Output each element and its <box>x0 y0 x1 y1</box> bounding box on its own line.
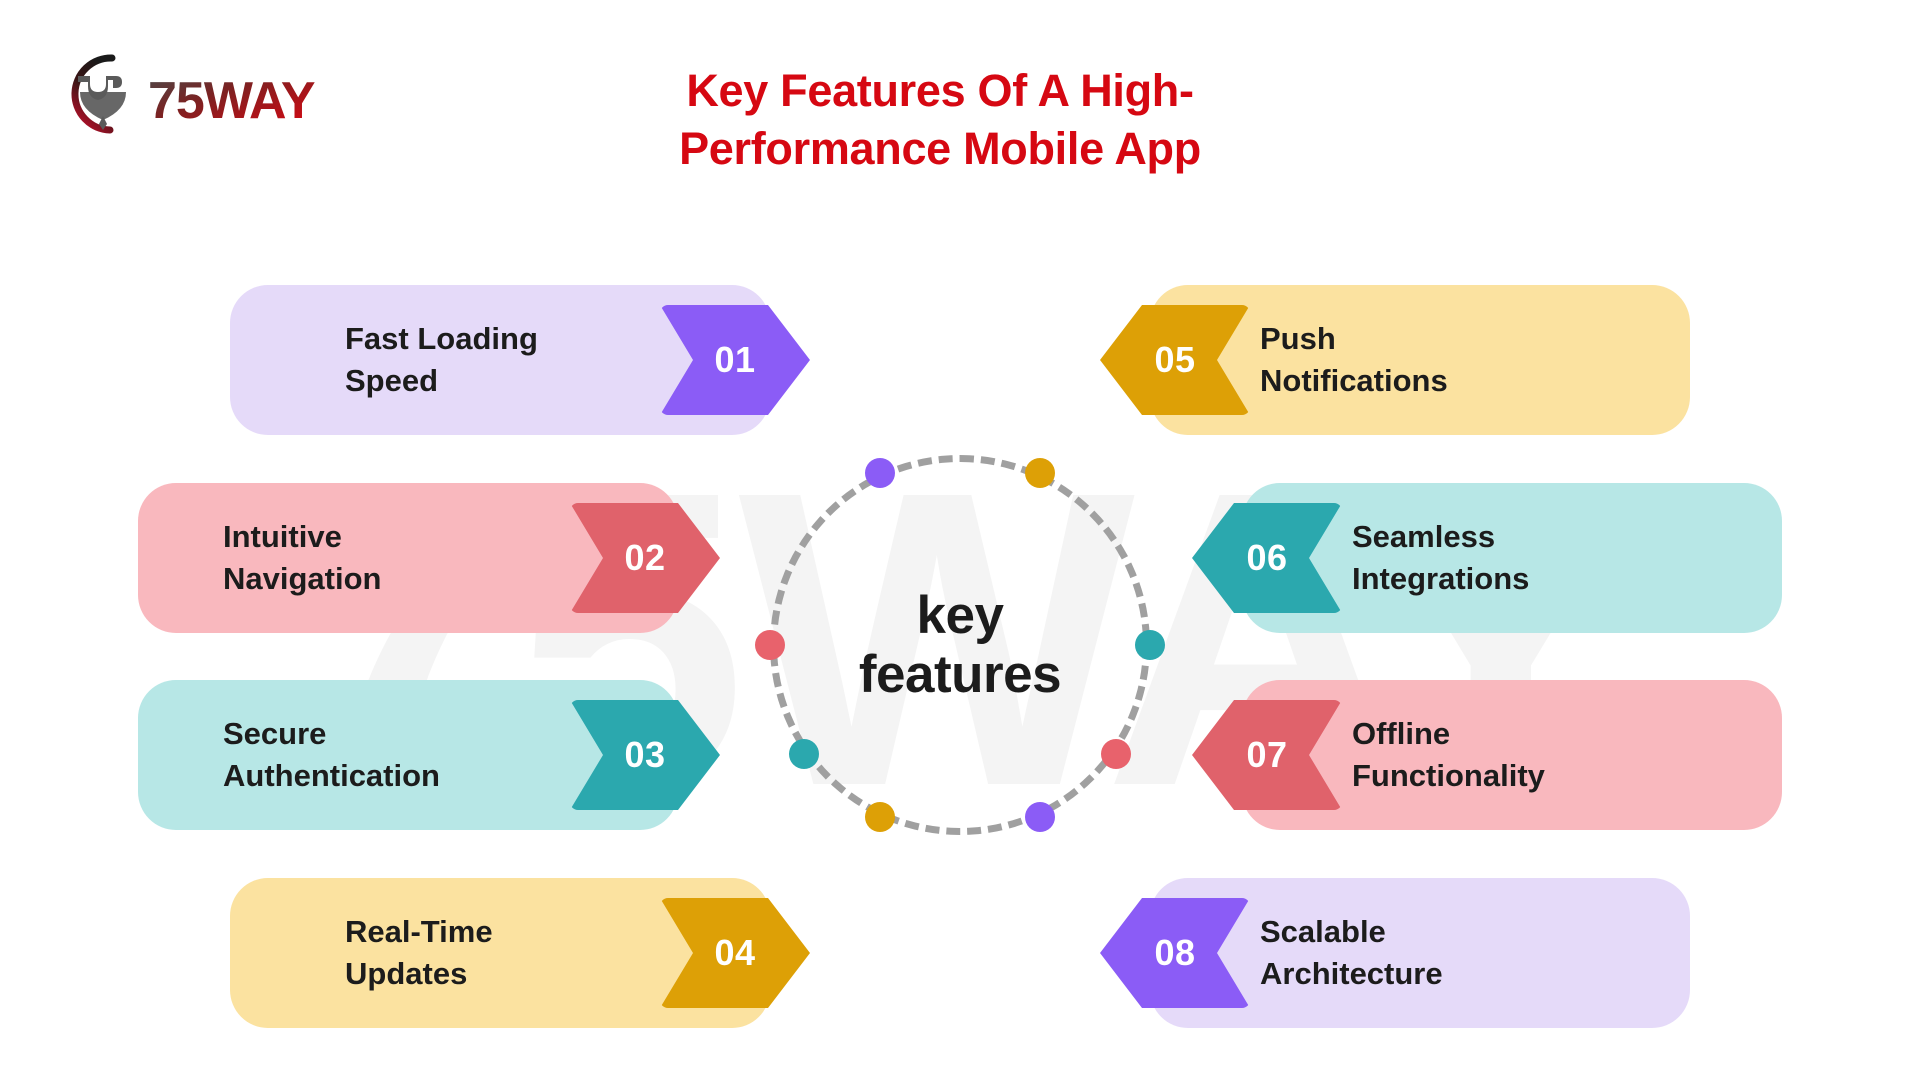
feature-label-07: Offline Functionality <box>1352 713 1545 797</box>
logo-svg: 75WAY <box>52 44 352 144</box>
feature-row-05[interactable]: Push Notifications05 <box>0 285 1920 435</box>
feature-label-06: Seamless Integrations <box>1352 516 1529 600</box>
feature-number-05: 05 <box>1154 339 1195 381</box>
dot-left-upper <box>755 630 785 660</box>
infographic-canvas: 75WAY <box>0 0 1920 1080</box>
feature-number-08: 08 <box>1154 932 1195 974</box>
feature-number-07: 07 <box>1246 734 1287 776</box>
dot-right-upper <box>1135 630 1165 660</box>
75way-logo: 75WAY <box>52 44 352 144</box>
feature-row-08[interactable]: Scalable Architecture08 <box>0 878 1920 1028</box>
feature-row-06[interactable]: Seamless Integrations06 <box>0 483 1920 633</box>
page-title: Key Features Of A High-Performance Mobil… <box>560 62 1320 177</box>
feature-row-07[interactable]: Offline Functionality07 <box>0 680 1920 830</box>
feature-label-05: Push Notifications <box>1260 318 1448 402</box>
feature-number-06: 06 <box>1246 537 1287 579</box>
logo-wordmark: 75WAY <box>148 72 315 130</box>
feature-label-08: Scalable Architecture <box>1260 911 1443 995</box>
